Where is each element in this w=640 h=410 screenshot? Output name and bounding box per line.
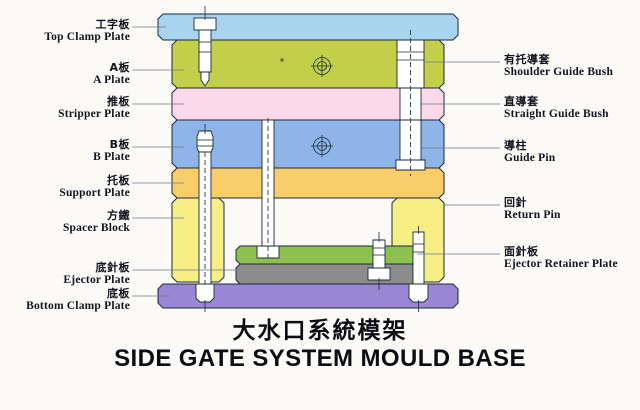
label-shoulder-guide-bush: 有托導套 Shoulder Guide Bush (504, 53, 613, 79)
label-en: Straight Guide Bush (504, 108, 609, 121)
label-en: Stripper Plate (0, 108, 130, 121)
label-bottom-clamp-plate: 底板 Bottom Clamp Plate (0, 287, 130, 313)
label-cn: 面針板 (504, 245, 618, 258)
label-cn: 導柱 (504, 139, 555, 152)
label-en: Ejector Plate (0, 274, 130, 287)
label-cn: 底板 (0, 287, 130, 300)
label-cn: 工字板 (0, 18, 130, 31)
label-guide-pin: 導柱 Guide Pin (504, 139, 555, 165)
plate-support (172, 168, 444, 198)
return-pin-left (196, 124, 214, 312)
mould-base-diagram-page: .o { stroke:#1a2a3a; stroke-width:1; } .… (0, 0, 640, 410)
label-cn: 直導套 (504, 95, 609, 108)
speck-a-plate (280, 58, 284, 62)
label-stripper-plate: 推板 Stripper Plate (0, 95, 130, 121)
label-en: Spacer Block (0, 222, 130, 235)
label-cn: B板 (0, 138, 130, 151)
title-english: SIDE GATE SYSTEM MOULD BASE (0, 345, 640, 373)
label-spacer-block: 方鐵 Spacer Block (0, 209, 130, 235)
label-en: A Plate (0, 74, 130, 87)
label-ejector-plate: 底針板 Ejector Plate (0, 261, 130, 287)
title-chinese: 大水口系統模架 (0, 318, 640, 345)
label-en: Return Pin (504, 209, 561, 222)
label-en: Shoulder Guide Bush (504, 66, 613, 79)
label-cn: 回針 (504, 196, 561, 209)
label-en: Bottom Clamp Plate (0, 300, 130, 313)
label-ejector-retainer-plate: 面針板 Ejector Retainer Plate (504, 245, 618, 271)
label-b-plate: B板 B Plate (0, 138, 130, 164)
label-support-plate: 托板 Support Plate (0, 174, 130, 200)
label-en: Guide Pin (504, 152, 555, 165)
label-en: Ejector Retainer Plate (504, 258, 618, 271)
label-straight-guide-bush: 直導套 Straight Guide Bush (504, 95, 609, 121)
label-return-pin: 回針 Return Pin (504, 196, 561, 222)
label-en: B Plate (0, 151, 130, 164)
label-cn: A板 (0, 61, 130, 74)
label-cn: 推板 (0, 95, 130, 108)
label-cn: 底針板 (0, 261, 130, 274)
label-en: Top Clamp Plate (0, 31, 130, 44)
label-cn: 有托導套 (504, 53, 613, 66)
label-top-clamp-plate: 工字板 Top Clamp Plate (0, 18, 130, 44)
label-cn: 方鐵 (0, 209, 130, 222)
label-en: Support Plate (0, 187, 130, 200)
label-a-plate: A板 A Plate (0, 61, 130, 87)
spacer-block-left (172, 198, 224, 282)
diagram-title: 大水口系統模架 SIDE GATE SYSTEM MOULD BASE (0, 318, 640, 373)
label-cn: 托板 (0, 174, 130, 187)
guide-pin-assembly (396, 30, 425, 176)
